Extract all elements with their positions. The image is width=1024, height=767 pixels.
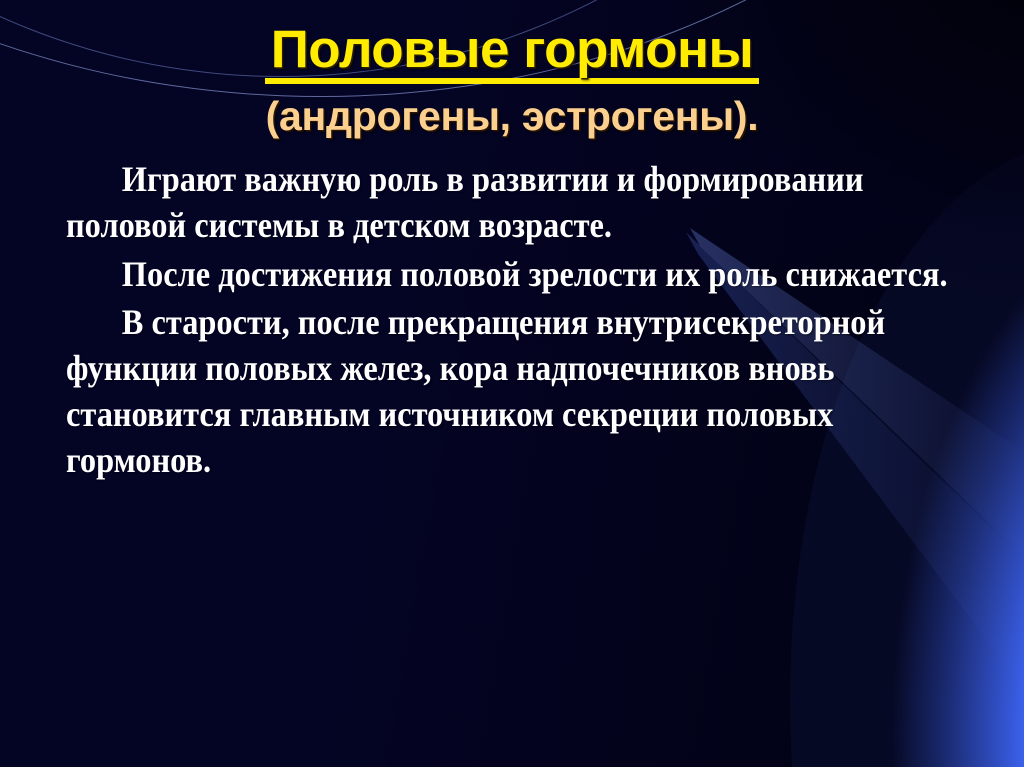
slide-heading-group: Половые гормоны (андрогены, эстрогены). [0, 0, 1024, 139]
body-paragraph: В старости, после прекращения внутрисекр… [66, 300, 983, 483]
body-paragraph: После достижения половой зрелости их рол… [66, 252, 983, 298]
slide-content: Половые гормоны (андрогены, эстрогены). … [0, 0, 1024, 767]
slide-title: Половые гормоны [265, 22, 760, 84]
presentation-slide: Половые гормоны (андрогены, эстрогены). … [0, 0, 1024, 767]
slide-subtitle: (андрогены, эстрогены). [0, 94, 1024, 139]
slide-body: Играют важную роль в развитии и формиров… [0, 157, 1024, 483]
body-paragraph: Играют важную роль в развитии и формиров… [66, 157, 983, 248]
